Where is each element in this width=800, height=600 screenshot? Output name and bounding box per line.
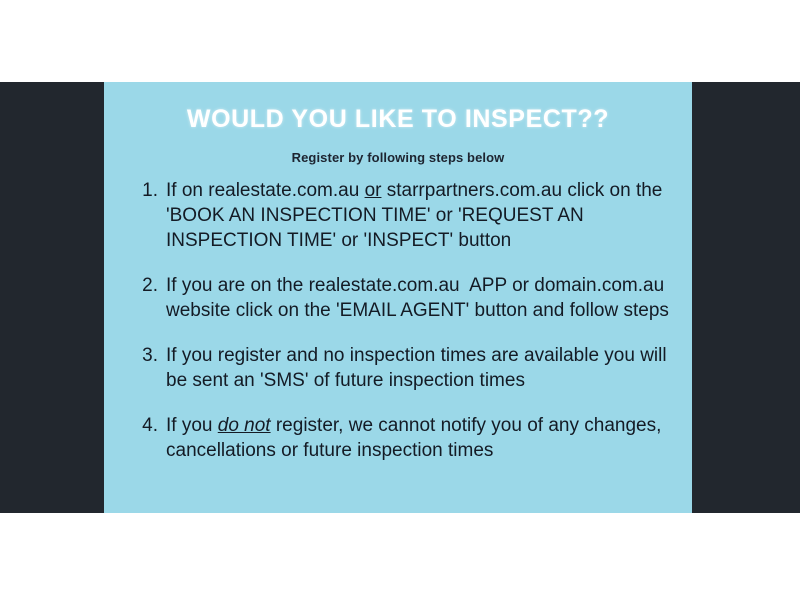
step-text-segment: or — [365, 180, 382, 201]
slide-subtitle: Register by following steps below — [104, 150, 692, 165]
step-text: If on realestate.com.au or starrpartners… — [166, 178, 680, 253]
step-number: 2. — [140, 273, 166, 298]
step-text-segment: do not — [218, 415, 271, 436]
step-text: If you register and no inspection times … — [166, 343, 680, 393]
step-number: 3. — [140, 343, 166, 368]
step-item: 2.If you are on the realestate.com.au AP… — [140, 273, 680, 323]
step-item: 1.If on realestate.com.au or starrpartne… — [140, 178, 680, 253]
step-text-segment: If you are on the realestate.com.au APP … — [166, 275, 669, 321]
step-text-segment: If on realestate.com.au — [166, 180, 365, 201]
step-text: If you are on the realestate.com.au APP … — [166, 273, 680, 323]
step-text-segment: If you — [166, 415, 218, 436]
steps-list: 1.If on realestate.com.au or starrpartne… — [140, 178, 680, 483]
step-item: 4.If you do not register, we cannot noti… — [140, 413, 680, 463]
step-number: 1. — [140, 178, 166, 203]
step-text: If you do not register, we cannot notify… — [166, 413, 680, 463]
screenshot-viewport: WOULD YOU LIKE TO INSPECT?? Register by … — [0, 0, 800, 600]
step-item: 3.If you register and no inspection time… — [140, 343, 680, 393]
slide-title: WOULD YOU LIKE TO INSPECT?? — [104, 105, 692, 134]
step-text-segment: If you register and no inspection times … — [166, 345, 672, 391]
step-number: 4. — [140, 413, 166, 438]
slide-panel: WOULD YOU LIKE TO INSPECT?? Register by … — [104, 82, 692, 513]
